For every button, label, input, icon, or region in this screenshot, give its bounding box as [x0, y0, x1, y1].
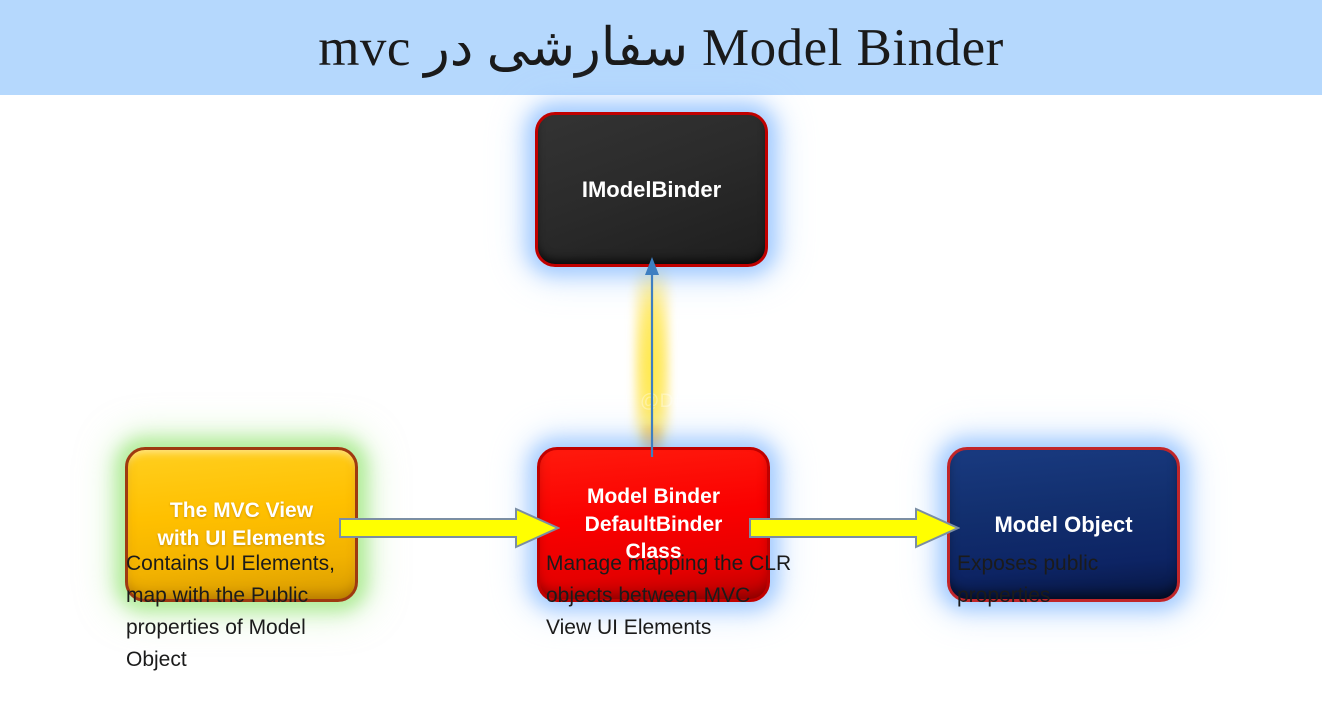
node-model-binder-label-line2: DefaultBinder: [585, 511, 723, 539]
node-mvc-view-label-line1: The MVC View: [157, 497, 325, 525]
caption-model-object: Exposes public properties: [957, 548, 1187, 612]
page-title: Model Binder سفارشی در mvc: [0, 0, 1322, 95]
node-mvc-view-label: The MVC View with UI Elements: [157, 497, 325, 552]
node-imodelbinder-label: IModelBinder: [582, 175, 721, 204]
caption-mvc-view: Contains UI Elements, map with the Publi…: [126, 548, 336, 677]
arrow-view-to-model-binder: [338, 506, 560, 550]
arrow-model-binder-to-model-object: [748, 506, 960, 550]
node-imodelbinder[interactable]: IModelBinder: [535, 112, 768, 267]
caption-model-binder: Manage mapping the CLR objects between M…: [546, 548, 796, 644]
node-model-object-label: Model Object: [994, 510, 1132, 539]
node-model-binder-label-line1: Model Binder: [585, 483, 723, 511]
arrow-model-binder-to-imodelbinder: [620, 253, 684, 458]
